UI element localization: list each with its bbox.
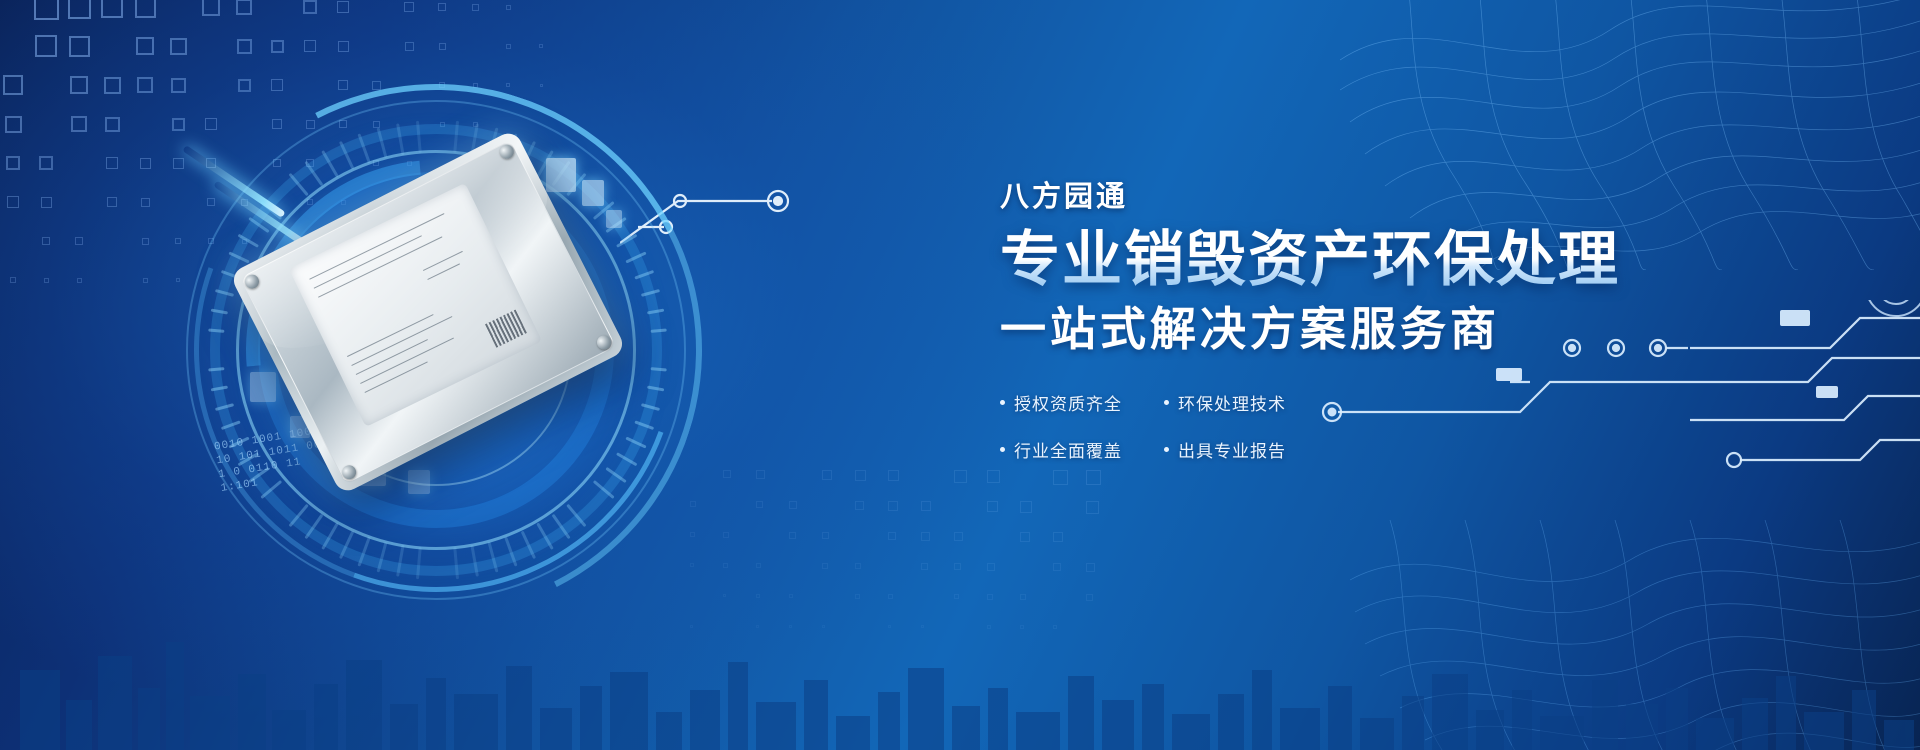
grid-square xyxy=(35,35,57,57)
ring-tick xyxy=(616,234,637,248)
feature-label: 环保处理技术 xyxy=(1178,390,1286,415)
grid-square xyxy=(39,156,53,170)
grid-square xyxy=(954,594,959,599)
grid-square xyxy=(70,76,88,94)
ring-tick xyxy=(634,270,654,280)
feature-item: 环保处理技术 xyxy=(1164,390,1312,415)
grid-square xyxy=(141,198,150,207)
grid-square xyxy=(987,470,1000,483)
brand-name: 八方园通 xyxy=(1000,182,1640,214)
ring-tick xyxy=(616,452,637,466)
ring-tick xyxy=(651,367,667,371)
ring-tick xyxy=(215,403,234,411)
grid-square xyxy=(135,0,156,18)
glow-block xyxy=(408,470,430,494)
glow-block xyxy=(606,210,622,228)
grid-square xyxy=(855,470,866,481)
headline: 专业销毁资产环保处理 xyxy=(1000,228,1640,293)
grid-square xyxy=(303,0,317,14)
ring-tick xyxy=(552,514,571,539)
grid-square xyxy=(822,470,832,480)
grid-square xyxy=(105,117,120,132)
grid-square xyxy=(954,470,967,483)
ring-tick xyxy=(321,522,339,549)
grid-square xyxy=(954,532,963,541)
grid-square xyxy=(170,38,187,55)
grid-square xyxy=(106,157,118,169)
feature-list: 授权资质齐全环保处理技术行业全面覆盖出具专业报告 xyxy=(1000,390,1640,462)
ring-tick xyxy=(289,504,309,527)
grid-square xyxy=(68,0,91,19)
feature-item: 授权资质齐全 xyxy=(1000,390,1148,415)
feature-label: 行业全面覆盖 xyxy=(1014,437,1122,462)
ring-tick xyxy=(641,289,660,297)
ring-tick xyxy=(488,542,499,573)
ring-tick xyxy=(377,127,388,158)
ring-tick xyxy=(339,531,354,559)
ring-tick xyxy=(641,403,660,411)
ring-tick xyxy=(647,309,664,315)
grid-square xyxy=(3,75,23,95)
grid-square xyxy=(1053,563,1061,571)
feature-label: 授权资质齐全 xyxy=(1014,390,1122,415)
ring-tick xyxy=(470,545,479,577)
feature-item: 行业全面覆盖 xyxy=(1000,437,1148,462)
grid-square xyxy=(10,277,16,283)
grid-square xyxy=(954,563,961,570)
ring-tick xyxy=(304,161,323,186)
grid-square xyxy=(789,594,793,598)
ring-tick xyxy=(215,289,234,297)
grid-square xyxy=(338,41,349,52)
grid-square xyxy=(888,594,893,599)
grid-square xyxy=(104,77,121,94)
grid-square xyxy=(888,470,899,481)
grid-square xyxy=(1053,532,1063,542)
ring-tick xyxy=(357,133,370,163)
ring-tick xyxy=(504,536,517,566)
grid-square xyxy=(987,563,995,571)
grid-square xyxy=(34,0,59,20)
ring-tick xyxy=(221,420,241,430)
grid-square xyxy=(1020,501,1032,513)
grid-square xyxy=(506,44,511,49)
ring-tick xyxy=(416,547,422,579)
bullet-dot-icon xyxy=(1164,447,1169,452)
bullet-dot-icon xyxy=(1000,400,1005,405)
grid-square xyxy=(855,563,861,569)
grid-square xyxy=(1086,501,1099,514)
ring-tick xyxy=(647,386,664,392)
glow-block xyxy=(250,372,276,402)
grid-square xyxy=(888,501,898,511)
grid-square xyxy=(236,0,252,15)
grid-square xyxy=(822,532,829,539)
ring-tick xyxy=(605,467,626,483)
ring-tick xyxy=(377,542,388,573)
grid-square xyxy=(304,40,316,52)
grid-square xyxy=(337,1,349,13)
grid-square xyxy=(1086,470,1101,485)
grid-square xyxy=(77,278,82,283)
grid-square xyxy=(921,563,928,570)
grid-square xyxy=(439,43,446,50)
ring-tick xyxy=(208,367,224,371)
grid-square xyxy=(75,237,83,245)
ring-tick xyxy=(521,531,536,559)
ring-tick xyxy=(593,480,615,499)
ring-tick xyxy=(208,328,224,332)
feature-item: 出具专业报告 xyxy=(1164,437,1312,462)
hero-graphic: 0010 1001 100 10 101 1011 00 1 0 0110 11… xyxy=(150,60,770,620)
grid-square xyxy=(107,197,117,207)
subheadline: 一站式解决方案服务商 xyxy=(1000,303,1640,356)
grid-square xyxy=(888,532,896,540)
grid-square xyxy=(789,501,797,509)
ring-tick xyxy=(228,251,249,263)
ring-tick xyxy=(211,309,228,315)
ring-tick xyxy=(357,536,370,566)
ring-tick xyxy=(396,123,405,155)
grid-square xyxy=(5,116,22,133)
grid-square xyxy=(921,532,930,541)
grid-square xyxy=(404,2,414,12)
grid-square xyxy=(822,563,828,569)
grid-square xyxy=(539,44,543,48)
grid-square xyxy=(44,278,49,283)
grid-square xyxy=(140,158,151,169)
ring-tick xyxy=(321,150,339,177)
ring-tick xyxy=(625,437,646,449)
feature-label: 出具专业报告 xyxy=(1178,437,1286,462)
bullet-dot-icon xyxy=(1000,447,1005,452)
grid-square xyxy=(42,237,50,245)
ring-tick xyxy=(453,547,459,579)
glow-block xyxy=(582,180,604,206)
grid-square xyxy=(237,39,252,54)
grid-square xyxy=(1053,470,1068,485)
ring-tick xyxy=(536,522,554,549)
ring-tick xyxy=(289,173,309,196)
grid-square xyxy=(69,36,90,57)
banner-copy: 八方园通 专业销毁资产环保处理 一站式解决方案服务商 授权资质齐全环保处理技术行… xyxy=(1000,182,1640,462)
grid-square xyxy=(438,3,446,11)
grid-square xyxy=(6,156,20,170)
grid-square xyxy=(789,532,796,539)
grid-square xyxy=(1020,532,1030,542)
ring-tick xyxy=(634,420,654,430)
ring-tick xyxy=(416,121,422,153)
grid-square xyxy=(202,0,220,16)
grid-square xyxy=(855,501,864,510)
banner-stage: 0010 1001 100 10 101 1011 00 1 0 0110 11… xyxy=(0,0,1920,750)
grid-square xyxy=(136,37,154,55)
ring-tick xyxy=(211,386,228,392)
ring-tick xyxy=(453,121,459,153)
ring-tick xyxy=(238,234,259,248)
grid-square xyxy=(472,4,479,11)
grid-square xyxy=(405,42,414,51)
grid-square xyxy=(143,278,148,283)
ring-tick xyxy=(339,141,354,169)
ring-tick xyxy=(396,545,405,577)
city-skyline-silhouette xyxy=(0,600,1920,750)
grid-square xyxy=(101,0,123,18)
grid-square xyxy=(855,594,860,599)
bullet-dot-icon xyxy=(1164,400,1169,405)
ring-tick xyxy=(304,514,323,539)
ring-tick xyxy=(651,328,667,332)
grid-square xyxy=(41,197,52,208)
ring-tick xyxy=(625,251,646,263)
grid-square xyxy=(506,5,511,10)
grid-square xyxy=(1086,563,1095,572)
grid-square xyxy=(987,501,998,512)
glow-block xyxy=(546,158,576,192)
ring-tick xyxy=(566,504,586,527)
grid-square xyxy=(7,196,19,208)
grid-square xyxy=(271,40,284,53)
grid-square xyxy=(921,501,931,511)
grid-square xyxy=(142,238,149,245)
hdd-barcode xyxy=(485,310,527,348)
grid-square xyxy=(71,116,87,132)
